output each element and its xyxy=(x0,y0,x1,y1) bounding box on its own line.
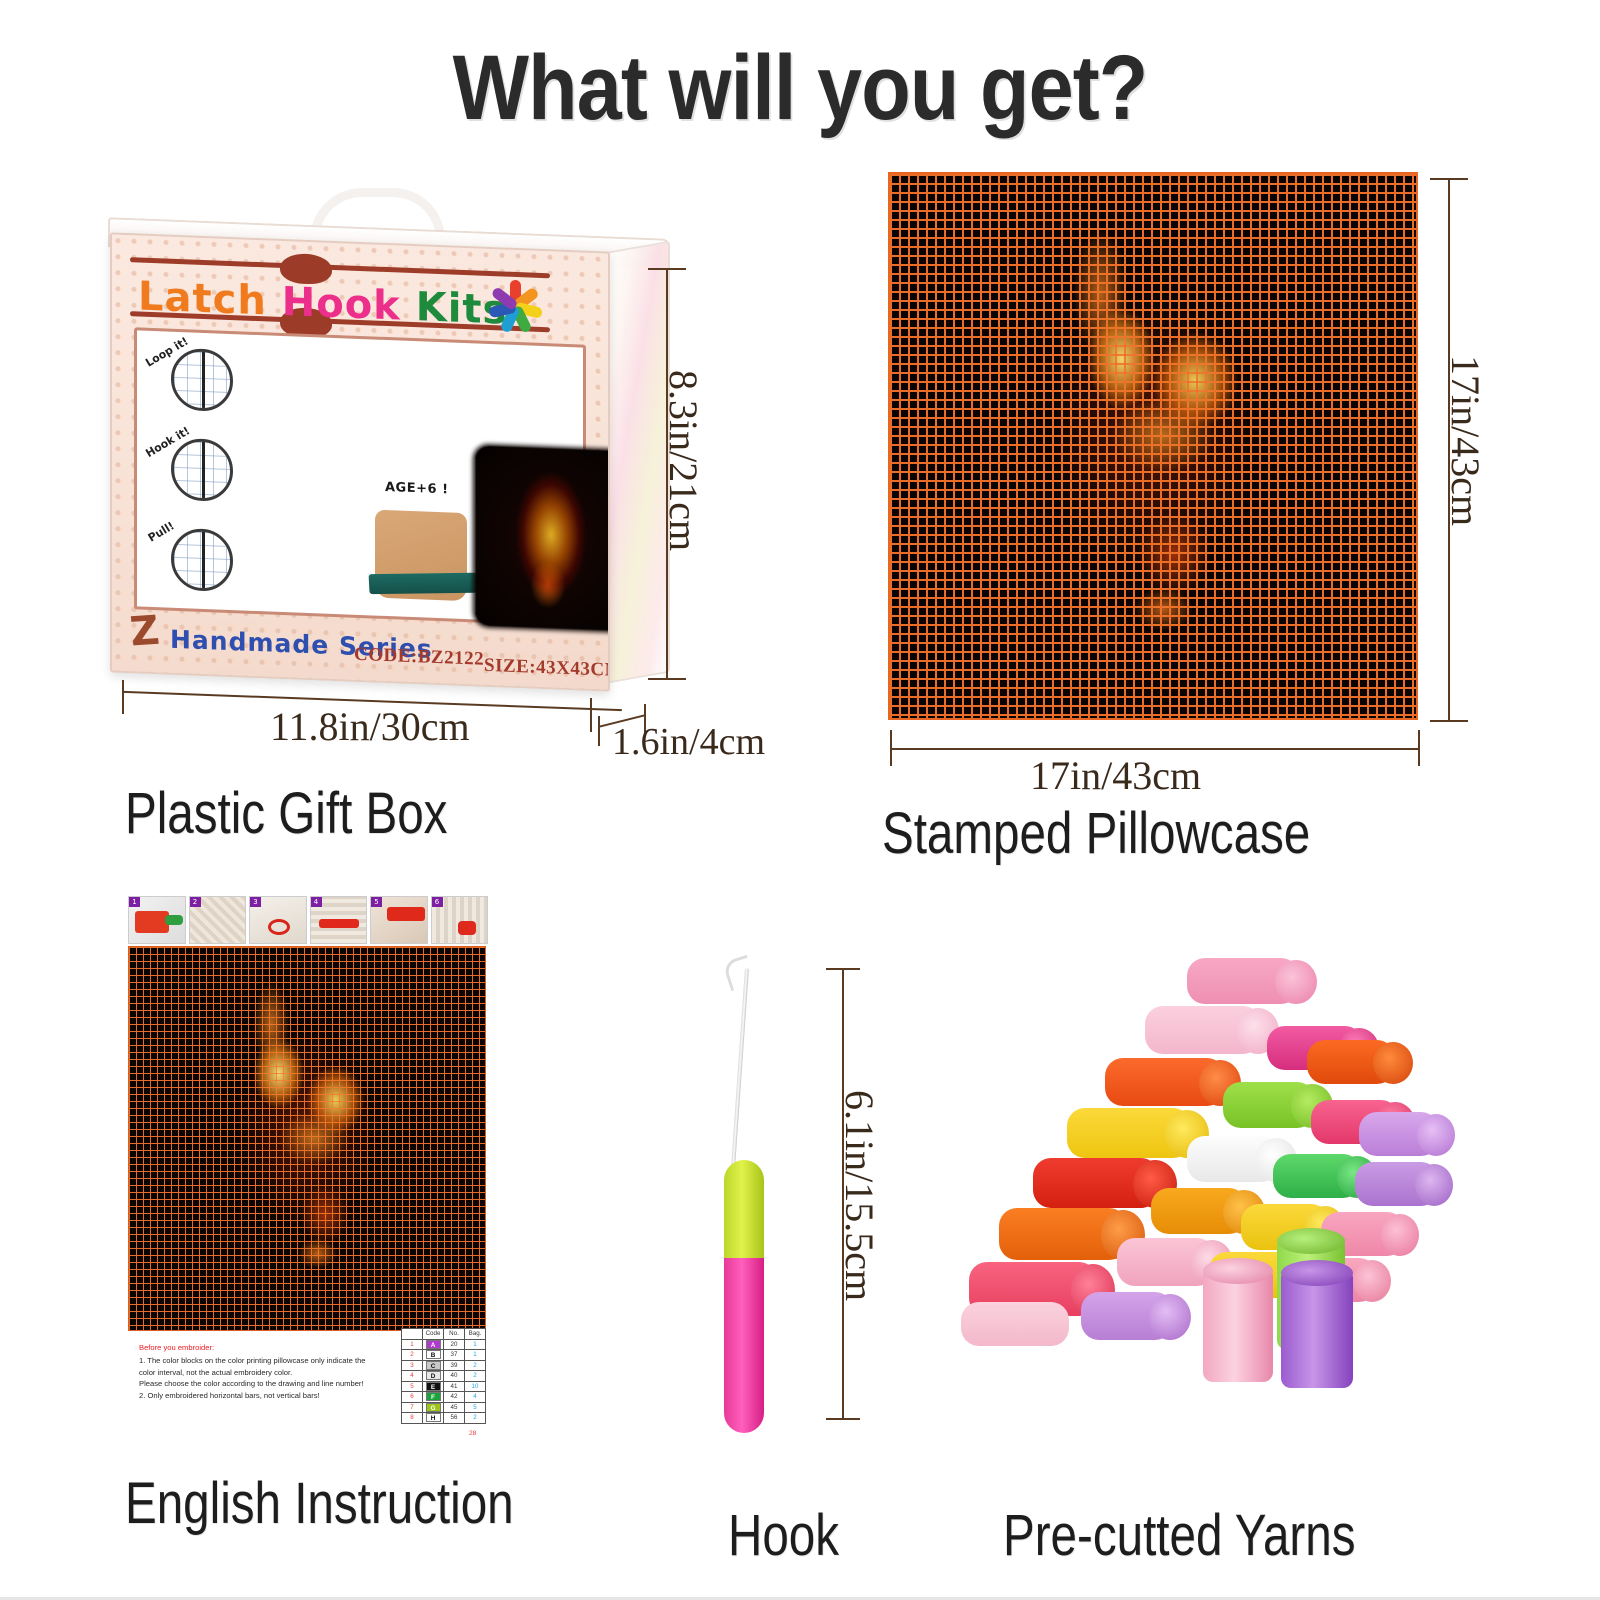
yarn-cap xyxy=(1275,960,1317,1004)
table-row: 3 C 39 2 xyxy=(402,1360,486,1371)
stamped-pillowcase-panel: 17in/43cm 17in/43cm Stamped Pillowcase xyxy=(860,160,1500,780)
swatch-B: B xyxy=(426,1350,441,1359)
caption-pre-cutted-yarns: Pre-cutted Yarns xyxy=(1003,1502,1355,1569)
page-title: What will you get? xyxy=(96,36,1504,141)
box-code-label: CODE:BZ2122 xyxy=(354,644,484,671)
pillow-band xyxy=(369,573,478,595)
thumbnail-badge: 2 xyxy=(190,897,201,907)
swatch-C: C xyxy=(426,1361,441,1370)
finished-pillow-image xyxy=(475,445,610,631)
dim-tick-depth-left xyxy=(598,716,600,746)
dim-tick-pillow-bottom xyxy=(1430,720,1468,722)
swatch-H: H xyxy=(426,1413,441,1422)
brand-latch: Latch xyxy=(138,273,267,324)
hook-needle xyxy=(731,968,749,1168)
thumbnail-badge: 3 xyxy=(250,897,261,907)
col-header-index xyxy=(402,1329,423,1340)
thumbnail-badge: 4 xyxy=(311,897,322,907)
brand-hook: Hook xyxy=(282,279,401,330)
instruction-thumbnail: 1 xyxy=(128,896,186,944)
table-row: 6 F 42 4 xyxy=(402,1392,486,1403)
yarn-bundle xyxy=(961,1302,1069,1346)
hook-handle-upper xyxy=(724,1160,764,1260)
col-header-bag: Bag. xyxy=(465,1329,486,1340)
yarn-cap xyxy=(1415,1164,1453,1206)
instruction-line-3: 2. Only embroidered horizontal bars, not… xyxy=(139,1391,320,1400)
yarn-cap xyxy=(1277,1228,1345,1254)
pinwheel-logo-icon xyxy=(484,275,546,339)
table-row: 1 A 20 1 xyxy=(402,1339,486,1350)
caption-stamped-pillowcase: Stamped Pillowcase xyxy=(882,800,1310,867)
caption-hook: Hook xyxy=(728,1502,839,1569)
english-instruction-panel: 1 2 3 4 5 6 xyxy=(125,890,525,1470)
dim-label-box-height: 8.3in/21cm xyxy=(660,370,707,551)
thumbnail-badge: 1 xyxy=(129,897,140,907)
instruction-heading: Before you embroider: xyxy=(139,1342,379,1354)
instruction-thumbnail: 2 xyxy=(189,896,247,944)
age-label: AGE+6 ! xyxy=(385,480,449,497)
step-circle-hook xyxy=(171,438,233,502)
yarn-cap xyxy=(1203,1258,1273,1284)
yarn-cap xyxy=(1373,1042,1413,1084)
instruction-flame-artwork xyxy=(129,947,485,1330)
caption-english-instruction: English Instruction xyxy=(125,1470,514,1537)
dim-tick-hook-top xyxy=(826,968,860,970)
dim-line-pillow-width xyxy=(890,748,1420,750)
table-row: 8 H 56 2 xyxy=(402,1413,486,1424)
dim-tick-height-top xyxy=(648,268,686,270)
box-size-label: SIZE:43X43CM xyxy=(484,655,610,682)
swatch-E: E xyxy=(426,1382,441,1391)
swatch-F: F xyxy=(426,1392,441,1401)
instruction-thumbnail-strip: 1 2 3 4 5 6 xyxy=(128,896,488,944)
instruction-chart-canvas xyxy=(128,946,486,1331)
thumbnail-badge: 5 xyxy=(371,897,382,907)
color-code-table: Code No. Bag. 1 A 20 1 2 B 37 1 3 C 39 2 xyxy=(401,1328,486,1424)
mesh-grid-overlay xyxy=(890,174,1416,718)
yarn-cap xyxy=(1417,1114,1455,1156)
hook-latch-tip-icon xyxy=(722,955,756,992)
col-header-no: No. xyxy=(444,1329,465,1340)
table-row: 7 G 45 5 xyxy=(402,1402,486,1413)
dim-tick-pillow-right xyxy=(1418,730,1420,766)
dim-tick-pillow-left xyxy=(890,730,892,766)
flame-design-artwork xyxy=(890,174,1416,718)
dim-label-hook-length: 6.1in/15.5cm xyxy=(836,1090,883,1301)
dim-label-box-width: 11.8in/30cm xyxy=(270,703,470,750)
yarn-cap xyxy=(1149,1294,1191,1340)
dim-label-pillow-height: 17in/43cm xyxy=(1442,355,1489,526)
col-header-code: Code xyxy=(423,1329,444,1340)
hook-panel: 6.1in/15.5cm Hook xyxy=(690,950,920,1430)
infographic-page: What will you get? Latch Hook Kits xyxy=(0,0,1600,1600)
dim-tick-width-right xyxy=(590,698,592,732)
table-row: 4 D 40 2 xyxy=(402,1371,486,1382)
swatch-A: A xyxy=(426,1340,441,1349)
dim-tick-height-bottom xyxy=(648,678,686,680)
instruction-line-1: 1. The color blocks on the color printin… xyxy=(139,1356,366,1377)
swatch-D: D xyxy=(426,1371,441,1380)
table-row: 2 B 37 1 xyxy=(402,1350,486,1361)
box-artwork-area: Loop it! Hook it! Pull! AGE+6 ! xyxy=(134,327,586,626)
instruction-line-2: Please choose the color according to the… xyxy=(139,1379,364,1388)
yarn-tube-standing xyxy=(1203,1270,1273,1382)
instruction-grid-overlay xyxy=(129,947,485,1330)
stamped-pillowcase-mesh xyxy=(888,172,1418,720)
instruction-text-block: Before you embroider: 1. The color block… xyxy=(139,1342,379,1402)
dim-label-box-depth: 1.6in/4cm xyxy=(612,720,765,764)
instruction-thumbnail: 5 xyxy=(370,896,428,944)
color-table-total: 28 xyxy=(469,1430,476,1437)
yarn-tube-standing xyxy=(1281,1272,1353,1388)
swatch-G: G xyxy=(426,1403,441,1412)
gift-box-panel: Latch Hook Kits Loop it! Hook it! xyxy=(100,180,780,760)
yarn-cap xyxy=(1353,1260,1391,1302)
table-row: 5 E 41 10 xyxy=(402,1381,486,1392)
dim-tick-width-left xyxy=(122,680,124,714)
step-circle-pull xyxy=(171,528,233,592)
yarn-cap xyxy=(1381,1214,1419,1256)
gift-box-front: Latch Hook Kits Loop it! Hook it! xyxy=(110,232,610,691)
hook-handle-lower xyxy=(724,1258,764,1433)
table-header-row: Code No. Bag. xyxy=(402,1329,486,1340)
dim-tick-hook-bottom xyxy=(826,1418,860,1420)
thumbnail-badge: 6 xyxy=(432,897,443,907)
dim-label-pillow-width: 17in/43cm xyxy=(1030,752,1201,799)
caption-gift-box: Plastic Gift Box xyxy=(125,780,447,847)
step-circle-loop xyxy=(171,348,233,412)
pre-cutted-yarns-panel: Pre-cutted Yarns xyxy=(955,940,1475,1440)
instruction-thumbnail: 4 xyxy=(310,896,368,944)
instruction-thumbnail: 3 xyxy=(249,896,307,944)
brand-title: Latch Hook Kits xyxy=(138,273,507,333)
step-label-3: Pull! xyxy=(146,519,177,544)
yarn-cap xyxy=(1281,1260,1353,1286)
dim-tick-pillow-top xyxy=(1430,178,1468,180)
instruction-thumbnail: 6 xyxy=(431,896,489,944)
